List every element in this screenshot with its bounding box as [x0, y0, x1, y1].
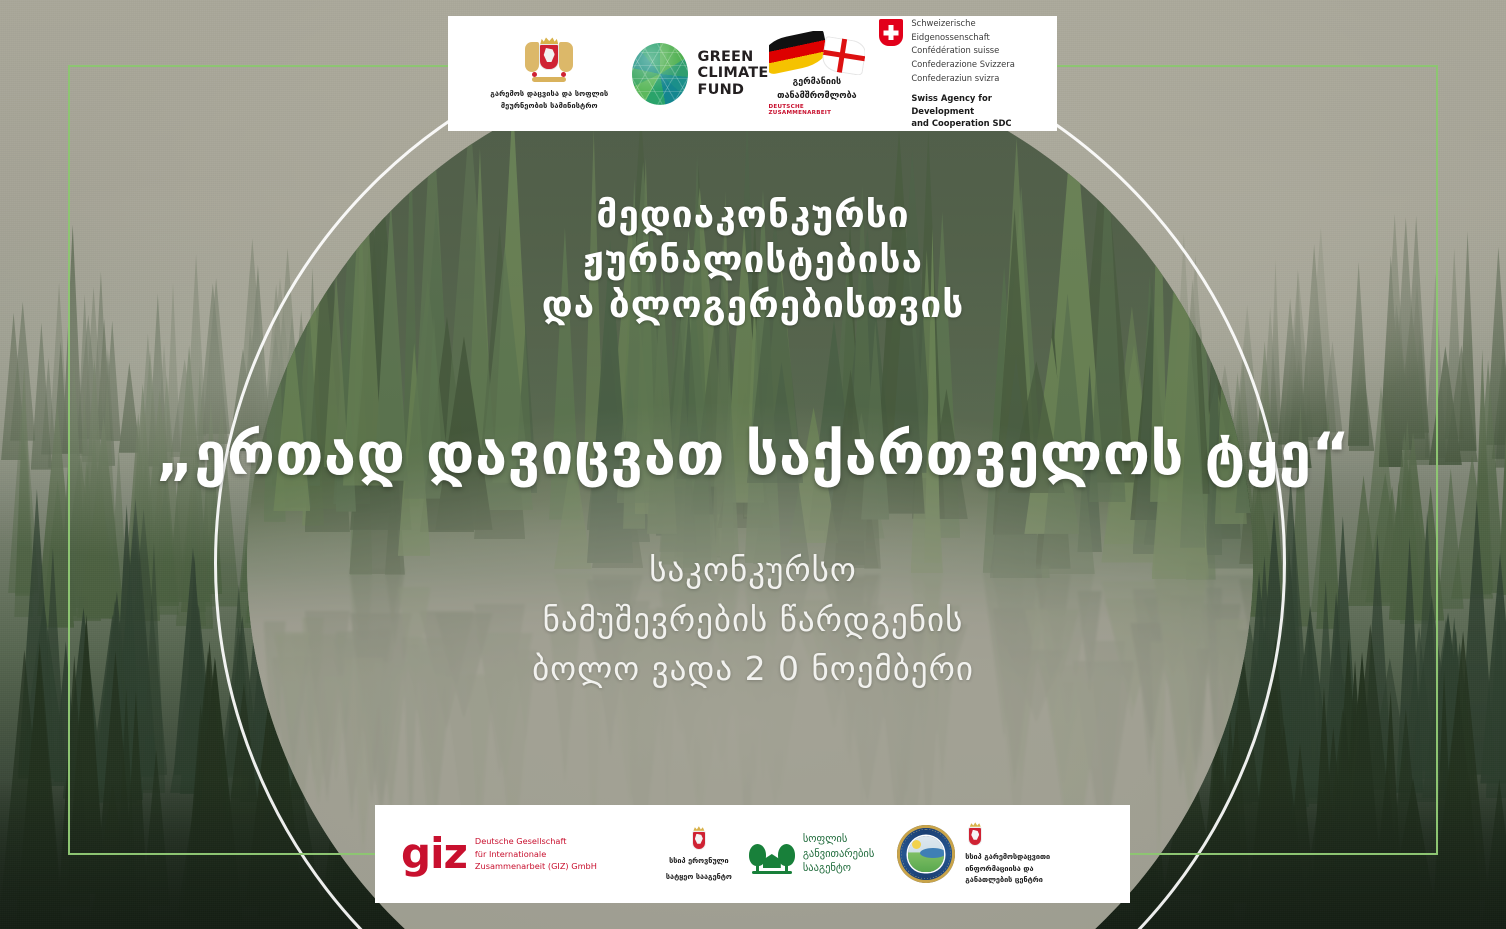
german-coop-tagline: DEUTSCHE ZUSAMMENARBEIT: [768, 104, 865, 116]
rda-line-3: სააგენტო: [803, 861, 875, 876]
swiss-line-rm: Confederaziun svizra: [911, 72, 1039, 86]
giz-line-3: Zusammenarbeit (GIZ) GmbH: [475, 860, 597, 873]
rda-line-1: სოფლის: [803, 832, 875, 847]
logo-german-cooperation: გერმანიის თანამშრომლობა DEUTSCHE ZUSAMME…: [768, 31, 865, 115]
swiss-text-block: Schweizerische Eidgenossenschaft Confédé…: [911, 17, 1039, 130]
swiss-agency-line-1: Swiss Agency for Development: [911, 92, 1039, 117]
swiss-line-it: Confederazione Svizzera: [911, 58, 1039, 72]
german-coop-line-1: გერმანიის: [793, 76, 841, 88]
ifc-line-3: განათლების ცენტრი: [965, 874, 1043, 886]
giz-wordmark: giz: [401, 837, 467, 871]
circle-tint-veil: [247, 60, 1253, 929]
georgia-coat-of-arms-icon: [965, 822, 985, 846]
logo-swiss-sdc: Schweizerische Eidgenossenschaft Confédé…: [879, 17, 1039, 130]
gcf-line-1: GREEN: [697, 49, 768, 65]
nfa-line-1: სსიპ ეროვნული: [669, 855, 729, 866]
german-coop-line-2: თანამშრომლობა: [777, 90, 857, 102]
logo-rural-development-agency: სოფლის განვითარების სააგენტო: [749, 832, 888, 877]
ministry-name-line-1: გარემოს დაცვისა და სოფლის: [490, 88, 608, 99]
german-georgian-flag-ribbon-icon: [769, 31, 865, 75]
rda-text-block: სოფლის განვითარების სააგენტო: [803, 832, 875, 877]
logo-ministry-of-environment: გარემოს დაცვისა და სოფლის მეურნეობის სამ…: [466, 36, 632, 111]
logo-environmental-info-center: სსიპ გარემოსდაცვითი ინფორმაციისა და განა…: [965, 822, 1104, 886]
trees-house-icon: [749, 834, 795, 874]
logo-green-climate-fund: GREEN CLIMATE FUND: [632, 43, 768, 105]
ministry-name-line-2: მეურნეობის სამინისტრო: [501, 100, 598, 111]
logo-national-forestry-agency: სსიპ ეროვნული სატყეო სააგენტო: [649, 826, 749, 883]
giz-fullname: Deutsche Gesellschaft für Internationale…: [475, 835, 597, 873]
circle-forest-reflection-photo: [247, 60, 1253, 929]
swiss-line-de: Schweizerische Eidgenossenschaft: [911, 17, 1039, 44]
swiss-agency-line-2: and Cooperation SDC: [911, 117, 1039, 130]
state-round-seal-icon: [897, 825, 955, 883]
logo-state-seal: [888, 825, 966, 883]
swiss-cross-shield-icon: [879, 19, 903, 46]
gcf-wordmark: GREEN CLIMATE FUND: [697, 49, 768, 98]
giz-line-2: für Internationale: [475, 848, 597, 861]
top-partner-logo-banner: გარემოს დაცვისა და სოფლის მეურნეობის სამ…: [448, 16, 1057, 131]
nfa-line-2: სატყეო სააგენტო: [666, 871, 732, 882]
giz-line-1: Deutsche Gesellschaft: [475, 835, 597, 848]
gcf-line-2: CLIMATE: [697, 65, 768, 81]
poster-canvas: გარემოს დაცვისა და სოფლის მეურნეობის სამ…: [0, 0, 1506, 929]
swiss-line-fr: Confédération suisse: [911, 44, 1039, 58]
gcf-globe-icon: [632, 43, 688, 105]
georgia-coat-of-arms-icon: [525, 36, 573, 82]
ifc-line-1: სსიპ გარემოსდაცვითი: [965, 851, 1050, 863]
bottom-partner-logo-banner: giz Deutsche Gesellschaft für Internatio…: [375, 805, 1130, 903]
rda-line-2: განვითარების: [803, 847, 875, 862]
logo-giz: giz Deutsche Gesellschaft für Internatio…: [401, 835, 649, 873]
ifc-line-2: ინფორმაციისა და: [965, 863, 1033, 875]
gcf-line-3: FUND: [697, 82, 768, 98]
georgia-coat-of-arms-icon: [689, 826, 709, 850]
